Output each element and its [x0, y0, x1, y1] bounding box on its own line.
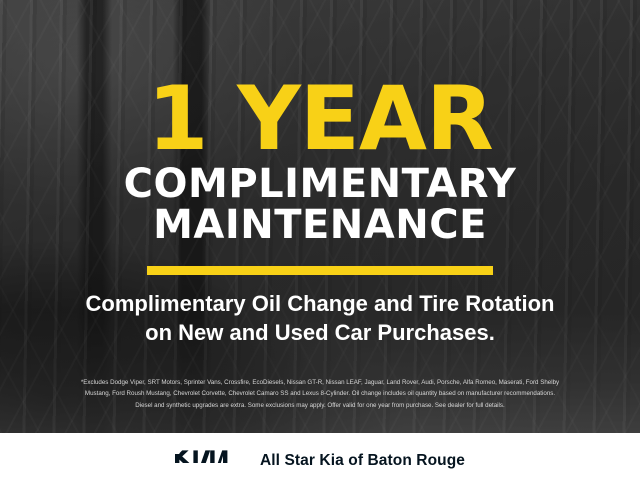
- dealer-name: All Star Kia of Baton Rouge: [260, 452, 465, 470]
- footer-bar: All Star Kia of Baton Rouge: [0, 433, 640, 488]
- offer-text-line-1: Complimentary Oil Change and Tire Rotati…: [86, 289, 555, 318]
- promo-banner: 1 YEAR COMPLIMENTARY MAINTENANCE Complim…: [0, 0, 640, 488]
- footer-brand-lockup: All Star Kia of Baton Rouge: [175, 448, 465, 474]
- headline-maintenance: MAINTENANCE: [153, 205, 487, 245]
- disclaimer-line-2: Mustang, Ford Roush Mustang, Chevrolet C…: [14, 388, 626, 399]
- headline-year: 1 YEAR: [147, 78, 493, 160]
- kia-logo-icon: [175, 448, 243, 474]
- headline-complimentary: COMPLIMENTARY: [124, 164, 517, 204]
- disclaimer-line-3: Diesel and synthetic upgrades are extra.…: [14, 400, 626, 411]
- offer-text-line-2: on New and Used Car Purchases.: [145, 318, 495, 347]
- yellow-divider: [147, 266, 493, 275]
- hero-section: 1 YEAR COMPLIMENTARY MAINTENANCE Complim…: [0, 0, 640, 433]
- disclaimer-line-1: *Excludes Dodge Viper, SRT Motors, Sprin…: [14, 377, 626, 388]
- hero-content: 1 YEAR COMPLIMENTARY MAINTENANCE Complim…: [0, 0, 640, 433]
- disclaimer-text: *Excludes Dodge Viper, SRT Motors, Sprin…: [0, 377, 640, 411]
